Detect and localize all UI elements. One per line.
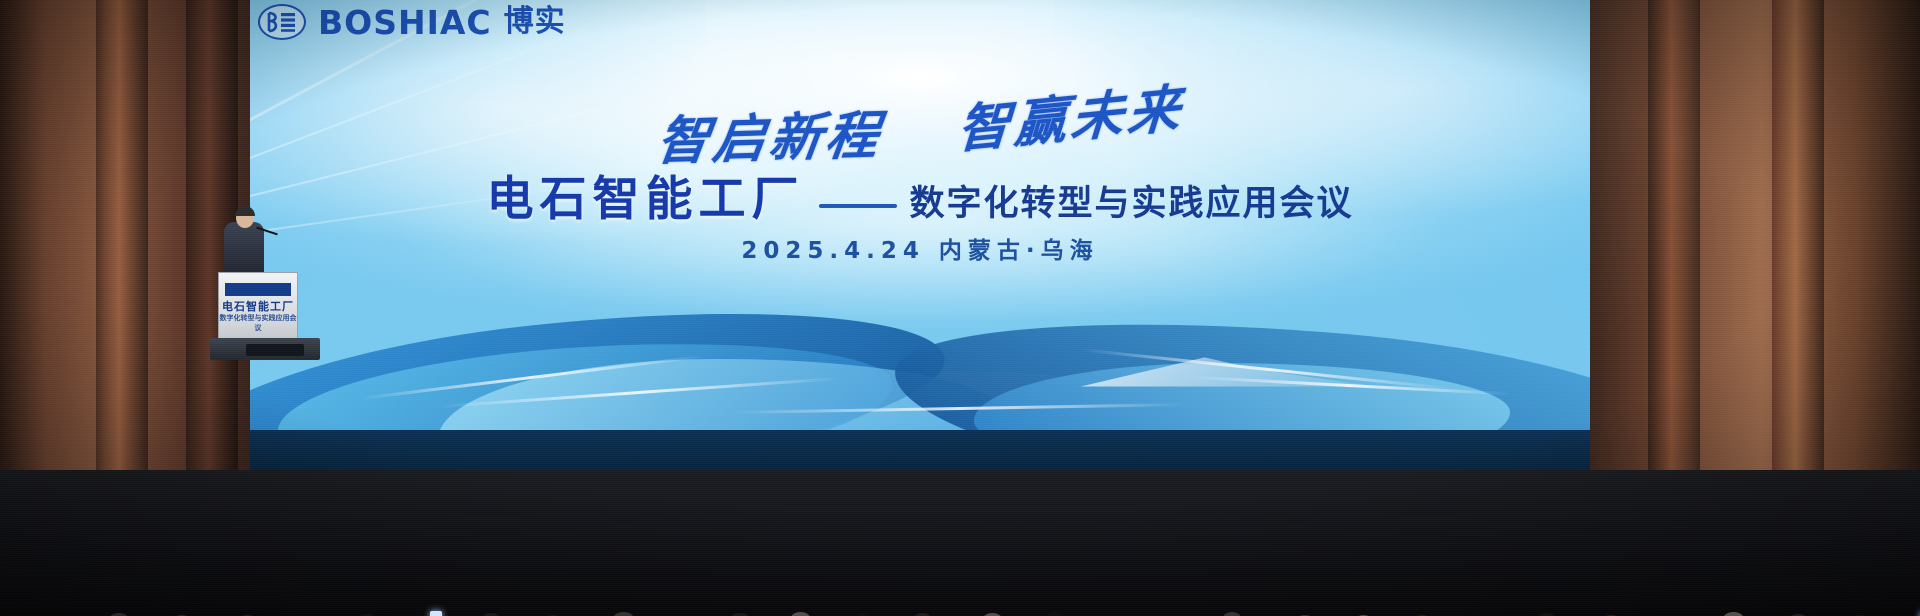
audience-member-hair [1046, 612, 1063, 616]
conference-photo: BOSHIAC 博实 智启新程 智赢未来 电石智能工厂 数字化转型与实践应用会议… [0, 0, 1920, 616]
podium-band [225, 283, 291, 296]
boshiac-emblem-icon [258, 4, 306, 40]
audience-member-hair [613, 612, 634, 616]
audience-member-hair [1723, 612, 1744, 616]
calligraphy-gap [902, 152, 932, 153]
conference-title: 电石智能工厂 数字化转型与实践应用会议 [250, 160, 1590, 229]
audience-member-hair [1223, 612, 1241, 616]
audience-member-hair [791, 612, 810, 616]
conference-dateline: 2025.4.24 内蒙古·乌海 [250, 231, 1590, 265]
title-em-dash [819, 204, 897, 208]
logo-chinese-name: 博实 [504, 7, 566, 37]
company-logo: BOSHIAC 博实 [258, 4, 566, 40]
logo-wordmark: BOSHIAC [318, 6, 492, 39]
conference-title-sub: 数字化转型与实践应用会议 [909, 184, 1353, 223]
audience-area [0, 300, 1920, 616]
attendee-phone-screen [430, 611, 442, 616]
conference-title-main: 电石智能工厂 [487, 172, 805, 225]
